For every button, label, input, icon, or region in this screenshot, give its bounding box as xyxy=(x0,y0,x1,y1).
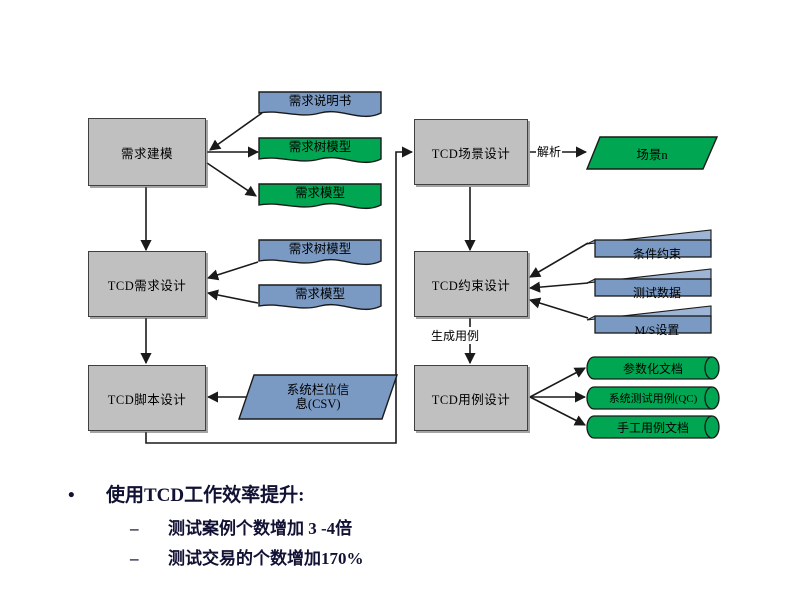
parallelogram-scene-n[interactable]: 场景n xyxy=(586,135,718,171)
bullet-level2-text: 测试交易的个数增加170% xyxy=(168,549,364,568)
edge-case-to-manualdoc xyxy=(530,397,585,425)
edge-reqtree2-to-tcdreq xyxy=(208,262,258,278)
cylinder-label: 参数化文档 xyxy=(586,356,734,380)
bullet-marker: – xyxy=(130,549,168,569)
document-req-model-1[interactable]: 需求模型 xyxy=(258,182,382,214)
edge-testdata-to-constraint xyxy=(530,283,588,288)
edge-label-generate-case: 生成用例 xyxy=(430,327,480,344)
document-req-spec[interactable]: 需求说明书 xyxy=(258,90,382,122)
process-tcd-script-design[interactable]: TCD脚本设计 xyxy=(88,365,206,431)
doc-shape-icon xyxy=(258,90,382,122)
bullet-level2-item: –测试案例个数增加 3 -4倍 xyxy=(130,514,770,539)
process-label: TCD场景设计 xyxy=(432,143,511,162)
process-tcd-scene-design[interactable]: TCD场景设计 xyxy=(414,119,528,185)
flag-label: 条件约束 xyxy=(586,229,720,268)
bullet-marker: – xyxy=(130,519,168,539)
process-label: TCD约束设计 xyxy=(432,275,511,294)
cylinder-manual-case-doc[interactable]: 手工用例文档 xyxy=(586,415,720,439)
document-req-tree-model-2[interactable]: 需求树模型 xyxy=(258,238,382,270)
slide-canvas: 需求建模 TCD需求设计 TCD脚本设计 TCD场景设计 TCD约束设计 TCD… xyxy=(0,0,800,600)
bullet-marker: • xyxy=(68,485,106,507)
bullet-level1: •使用TCD工作效率提升: xyxy=(68,480,708,507)
document-req-tree-model-1[interactable]: 需求树模型 xyxy=(258,136,382,168)
flag-condition-constraint[interactable]: 条件约束 xyxy=(586,229,712,259)
doc-shape-icon xyxy=(258,283,382,315)
flag-label: M/S设置 xyxy=(586,305,720,344)
document-req-model-2[interactable]: 需求模型 xyxy=(258,283,382,315)
flag-test-data[interactable]: 测试数据 xyxy=(586,268,712,298)
edge-condition-to-constraint xyxy=(530,243,588,277)
workflow-diagram: 需求建模 TCD需求设计 TCD脚本设计 TCD场景设计 TCD约束设计 TCD… xyxy=(0,0,800,470)
process-label: 需求建模 xyxy=(121,143,173,162)
process-tcd-req-design[interactable]: TCD需求设计 xyxy=(88,251,206,317)
doc-shape-icon xyxy=(258,182,382,214)
parallelogram-label-line1: 系统栏位信 xyxy=(287,383,350,397)
edge-ms-to-constraint xyxy=(530,300,588,318)
process-label: TCD需求设计 xyxy=(108,275,187,294)
process-tcd-constraint-design[interactable]: TCD约束设计 xyxy=(414,251,528,317)
edge-reqmodel2-to-tcdreq xyxy=(208,293,258,303)
cylinder-param-doc[interactable]: 参数化文档 xyxy=(586,356,720,380)
bullet-level1-text: 使用TCD工作效率提升: xyxy=(106,485,304,506)
parallelogram-label-line2: 息(CSV) xyxy=(295,397,340,411)
bullet-list: •使用TCD工作效率提升: –测试案例个数增加 3 -4倍 –测试交易的个数增加… xyxy=(0,470,800,600)
flag-label: 测试数据 xyxy=(586,268,720,307)
cylinder-label: 系统测试用例(QC) xyxy=(586,386,732,410)
cylinder-label: 手工用例文档 xyxy=(586,415,734,439)
process-tcd-case-design[interactable]: TCD用例设计 xyxy=(414,365,528,431)
bullet-level2-text: 测试案例个数增加 3 -4倍 xyxy=(168,519,352,538)
edge-modeling-to-reqmodel xyxy=(207,163,256,196)
doc-shape-icon xyxy=(258,136,382,168)
doc-shape-icon xyxy=(258,238,382,270)
edge-case-to-paramdoc xyxy=(530,368,585,397)
edge-label-parse: 解析 xyxy=(536,143,562,160)
process-label: TCD脚本设计 xyxy=(108,389,187,408)
parallelogram-label: 场景n xyxy=(586,135,718,171)
process-req-modeling[interactable]: 需求建模 xyxy=(88,118,206,186)
edge-spec-to-modeling xyxy=(210,113,262,150)
cylinder-sys-test-case-qc[interactable]: 系统测试用例(QC) xyxy=(586,386,720,410)
process-label: TCD用例设计 xyxy=(432,389,511,408)
flag-ms-setting[interactable]: M/S设置 xyxy=(586,305,712,335)
parallelogram-system-field-csv[interactable]: 系统栏位信 息(CSV) xyxy=(238,373,398,421)
bullet-level2-item: –测试交易的个数增加170% xyxy=(130,544,770,569)
